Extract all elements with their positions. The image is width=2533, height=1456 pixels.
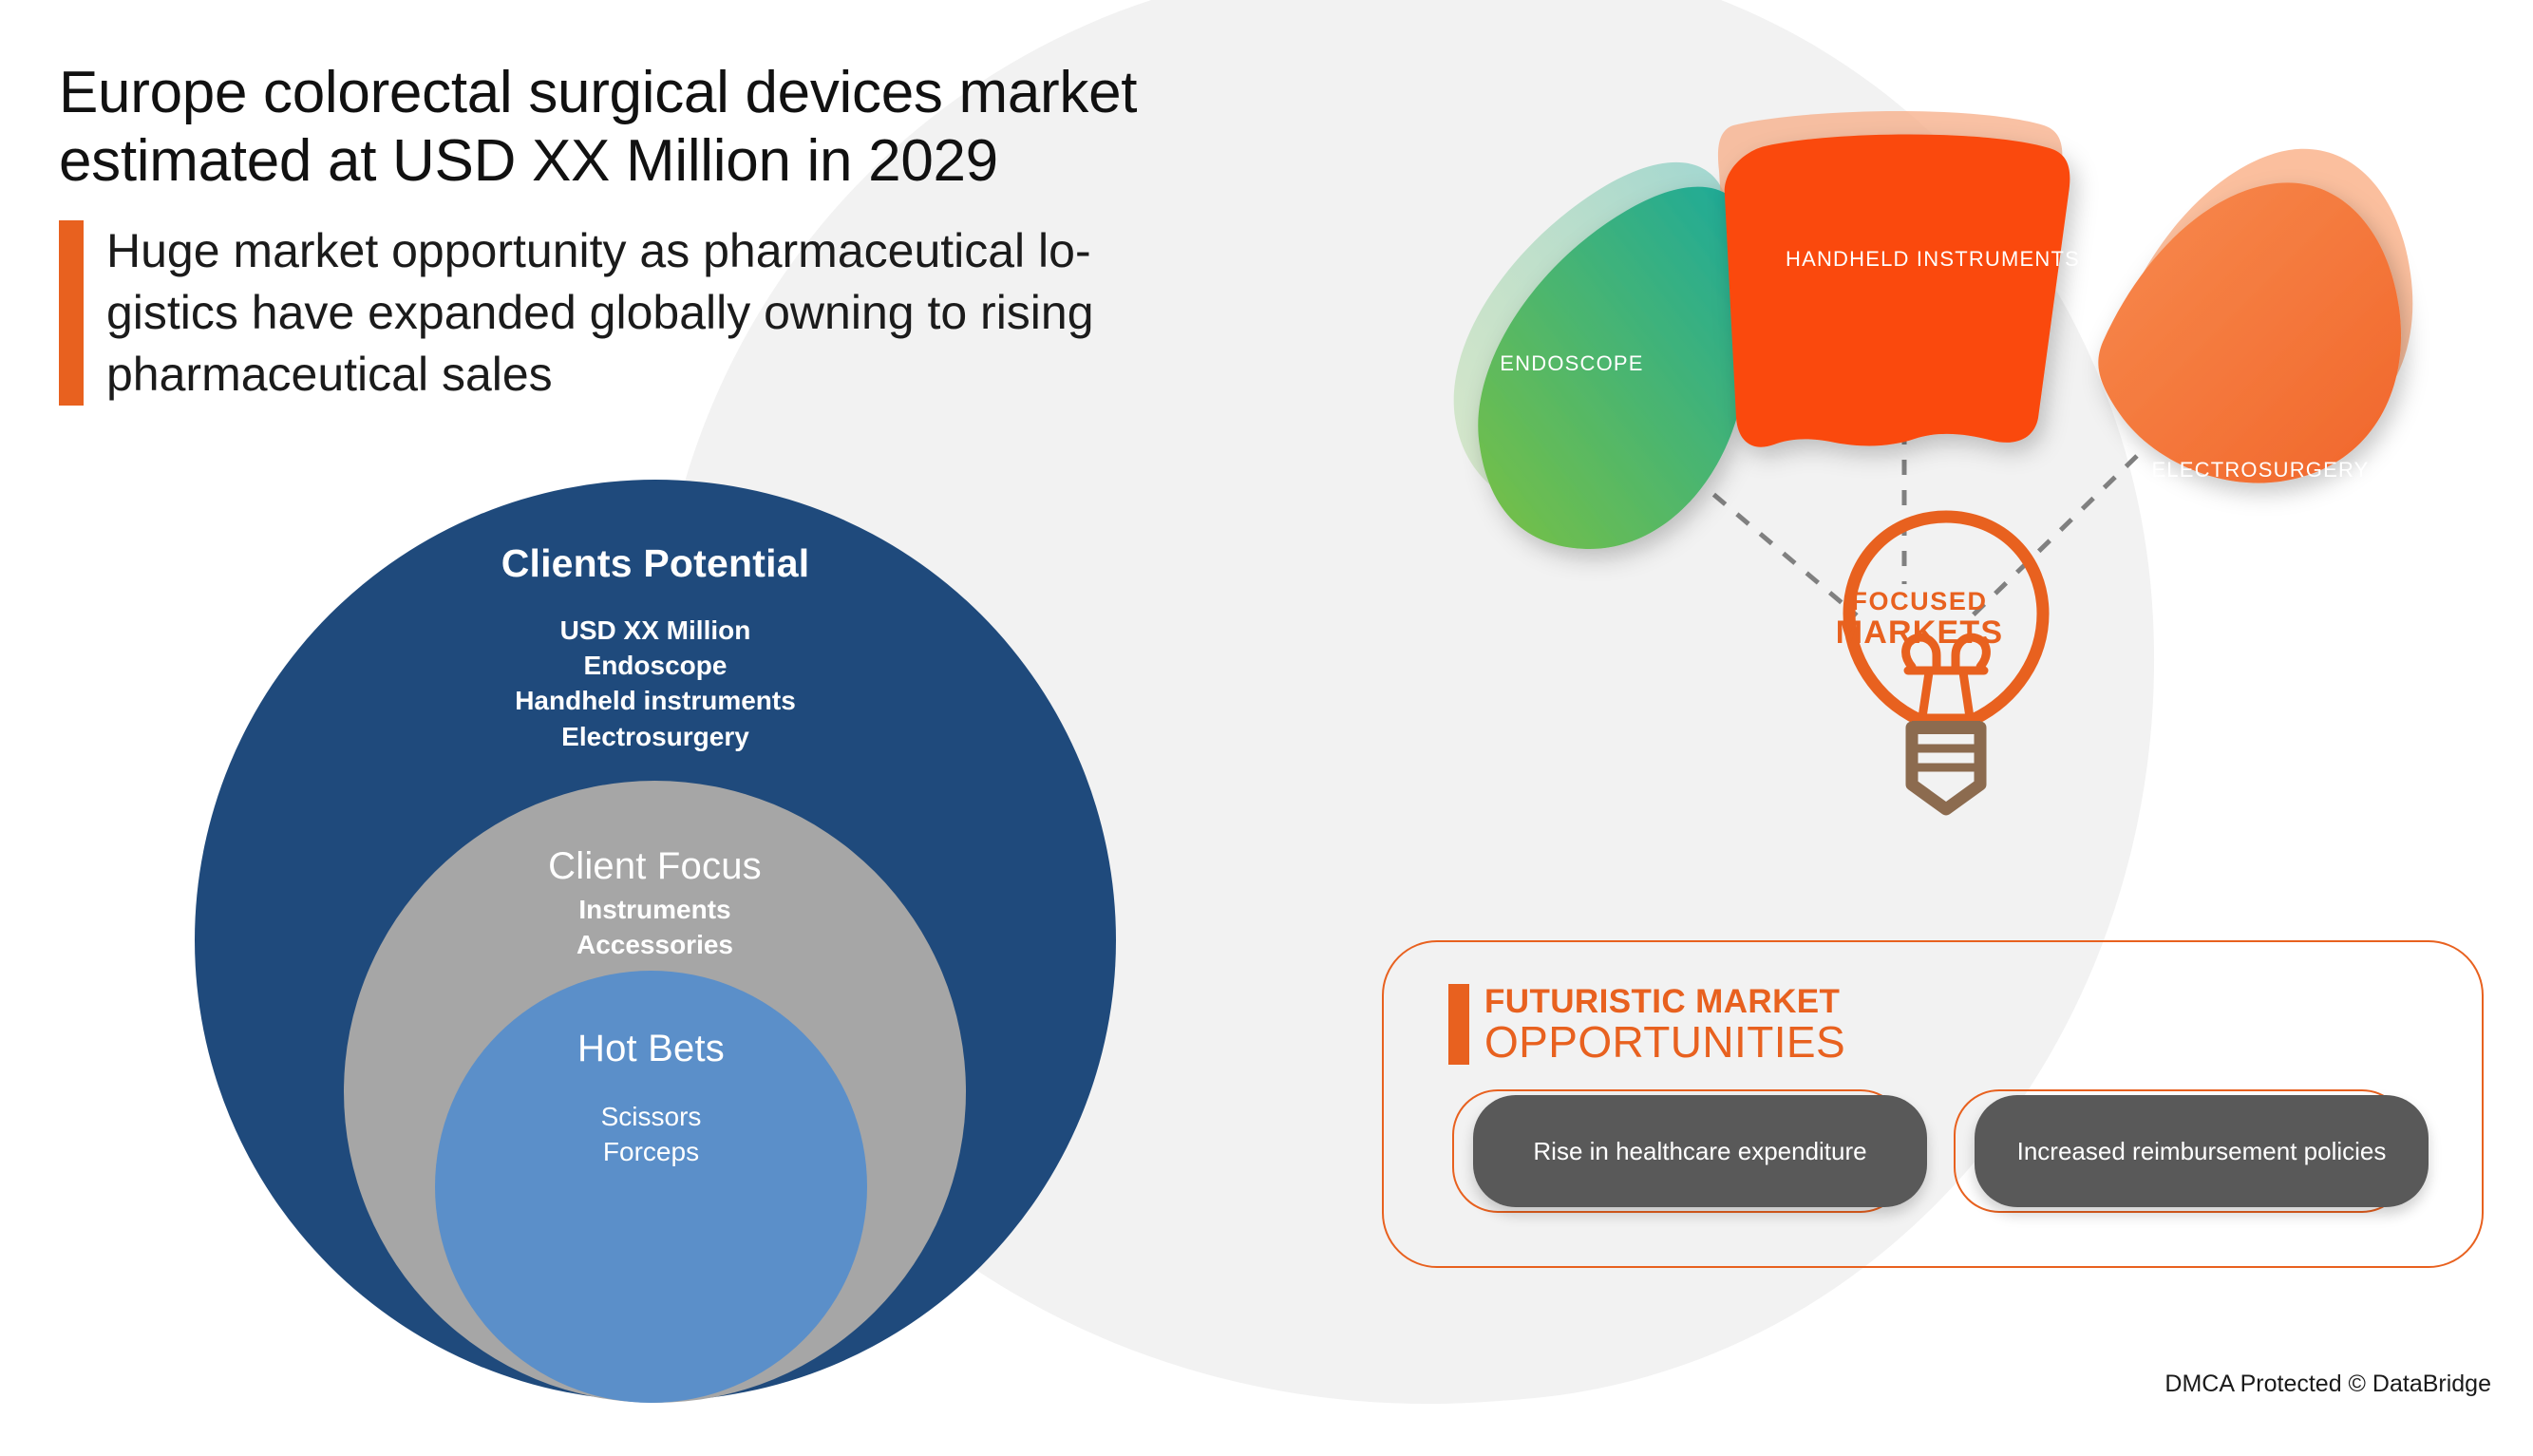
opportunity-pill-outline: Increased reimbursement policies bbox=[1954, 1089, 2408, 1213]
concentric-circles-diagram: Clients Potential USD XX Million Endosco… bbox=[195, 480, 1116, 1401]
futuristic-opportunities-panel: FUTURISTIC MARKET OPPORTUNITIES Rise in … bbox=[1382, 940, 2484, 1268]
opportunities-title-line2: OPPORTUNITIES bbox=[1484, 1020, 1845, 1065]
opportunity-pill-outline: Rise in healthcare expenditure bbox=[1452, 1089, 1906, 1213]
petal-electrosurgery[interactable] bbox=[2098, 182, 2401, 482]
circle-middle-title: Client Focus bbox=[344, 845, 966, 888]
circle-outer-items: USD XX Million Endoscope Handheld instru… bbox=[195, 613, 1116, 754]
opportunities-title-block: FUTURISTIC MARKET OPPORTUNITIES bbox=[1484, 984, 1845, 1065]
footer-credit: DMCA Protected © DataBridge bbox=[2164, 1371, 2491, 1398]
circle-hot-bets[interactable]: Hot Bets Scissors Forceps bbox=[435, 971, 867, 1403]
opportunities-pill-list: Rise in healthcare expenditure Increased… bbox=[1452, 1089, 2408, 1213]
opportunity-pill-reimbursement-policies[interactable]: Increased reimbursement policies bbox=[1975, 1095, 2429, 1207]
circle-inner-items: Scissors Forceps bbox=[435, 1099, 867, 1169]
petals-svg bbox=[1406, 104, 2460, 541]
petal-handheld-instruments[interactable] bbox=[1725, 135, 2070, 447]
page-subtitle: Huge market opportunity as pharmaceutica… bbox=[106, 220, 1094, 406]
opportunities-accent-bar bbox=[1448, 984, 1469, 1065]
circle-outer-title: Clients Potential bbox=[195, 541, 1116, 586]
lightbulb-icon bbox=[1809, 503, 2113, 836]
opportunities-heading-row: FUTURISTIC MARKET OPPORTUNITIES bbox=[1448, 984, 1845, 1065]
circle-middle-items: Instruments Accessories bbox=[344, 892, 966, 962]
circle-inner-title: Hot Bets bbox=[435, 1028, 867, 1070]
focused-markets-bulb[interactable]: FOCUSED MARKETS bbox=[1809, 503, 2113, 836]
page-title: Europe colorectal surgical devices marke… bbox=[59, 59, 1446, 196]
focused-markets-petals: ENDOSCOPE HANDHELD INSTRUMENTS ELECTROSU… bbox=[1406, 104, 2460, 541]
subtitle-row: Huge market opportunity as pharmaceutica… bbox=[59, 220, 1446, 406]
opportunity-pill-healthcare-expenditure[interactable]: Rise in healthcare expenditure bbox=[1473, 1095, 1927, 1207]
headline-block: Europe colorectal surgical devices marke… bbox=[59, 59, 1446, 406]
opportunities-title-line1: FUTURISTIC MARKET bbox=[1484, 984, 1845, 1020]
petal-endoscope[interactable] bbox=[1478, 187, 1757, 549]
subtitle-accent-bar bbox=[59, 220, 84, 406]
